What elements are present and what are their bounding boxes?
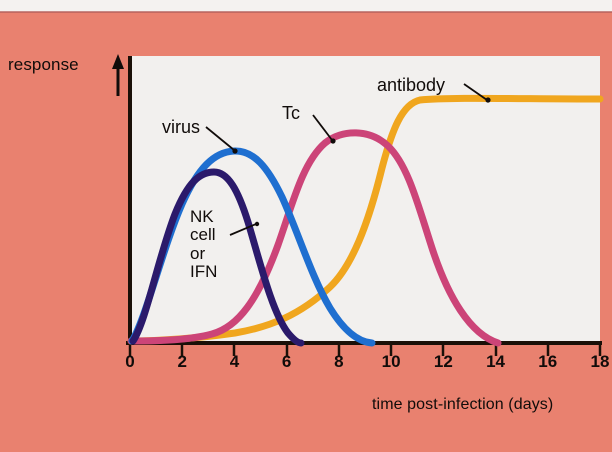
leader-dot-nk (255, 222, 259, 226)
curve-label-antibody: antibody (377, 76, 445, 95)
x-tick-label: 2 (177, 352, 186, 372)
x-axis-label: time post-infection (days) (372, 396, 553, 413)
x-tick-label: 8 (334, 352, 343, 372)
leader-dot-antibody (485, 97, 490, 102)
leader-dot-virus (232, 148, 237, 153)
x-tick-label: 4 (230, 352, 239, 372)
x-tick-label: 6 (282, 352, 291, 372)
x-tick-label: 18 (591, 352, 610, 372)
leader-dot-tc (330, 138, 335, 143)
x-axis-ticks (130, 344, 600, 356)
curve-label-tc: Tc (282, 104, 300, 123)
x-tick-label: 10 (382, 352, 401, 372)
y-axis-label: response (8, 56, 79, 74)
immune-response-figure: response virus NK cell or IFN Tc antibod… (0, 0, 612, 452)
x-tick-label: 16 (538, 352, 557, 372)
x-tick-label: 0 (125, 352, 134, 372)
up-arrow-icon (112, 54, 124, 96)
x-tick-label: 12 (434, 352, 453, 372)
curve-label-virus: virus (162, 118, 200, 137)
chart-canvas (0, 0, 612, 452)
curve-label-nk-ifn: NK cell or IFN (190, 208, 217, 281)
x-tick-label: 14 (486, 352, 505, 372)
